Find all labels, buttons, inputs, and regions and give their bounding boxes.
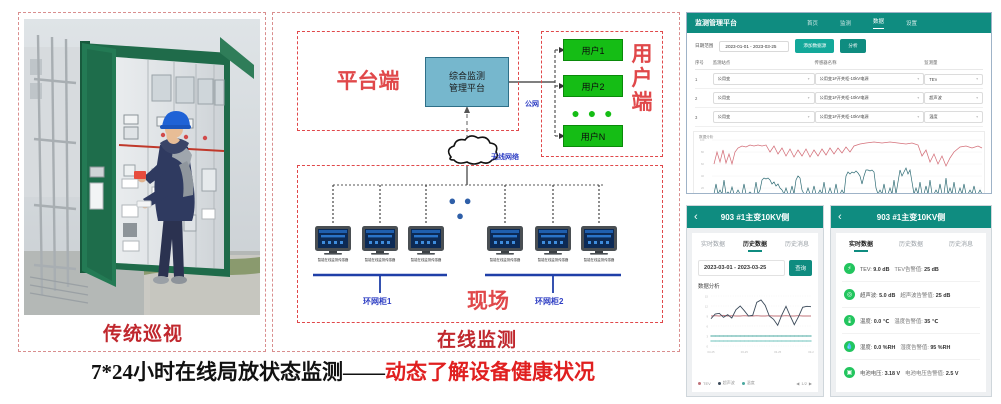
svg-text:40: 40 [701, 174, 704, 178]
online-monitoring-caption: 在线监测 [273, 325, 681, 352]
field-device [313, 225, 353, 255]
field-device [533, 225, 573, 255]
svg-text:6: 6 [706, 324, 708, 328]
svg-text:60: 60 [701, 162, 704, 166]
label-public-network: 公网 [525, 99, 539, 109]
metric-select[interactable]: 超声波▾ [924, 92, 983, 104]
date-filter-label: 日期范围 [695, 43, 713, 49]
history-date-input[interactable]: 2023-03-01 - 2023-03-25 [698, 260, 785, 276]
zone-field-label: 现场 [433, 285, 543, 315]
mobile-history-header: ‹ 903 #1主变10KV侧 [687, 206, 823, 228]
history-chart: 0369121503-2503-2503-2503-2 [698, 292, 812, 378]
label-ring-cabinet-1: 环网柜1 [363, 296, 391, 307]
svg-text:03-25: 03-25 [741, 350, 749, 354]
table-row: 1公用变▾公用变1#开关柜-10kV电源▾TEV▾ [695, 70, 983, 89]
legend-label: TEV [703, 381, 711, 386]
label-ring-cabinet-2: 环网柜2 [535, 296, 563, 307]
chevron-down-icon: ▾ [808, 77, 810, 81]
humidity-icon: 💧 [844, 341, 855, 352]
metric-row: ⚡TEV: 9.0 dBTEV告警值: 25 dB [842, 256, 980, 282]
page-indicator: 1/2 [801, 381, 807, 386]
svg-text:0: 0 [704, 192, 706, 194]
mobile-history-title: 903 #1主变10KV侧 [721, 212, 789, 223]
platform-node-line1: 综合监测 [449, 71, 485, 81]
bottom-caption-black: 7*24小时在线局放状态监测—— [91, 360, 385, 384]
node-user-2: 用户2 [563, 75, 623, 97]
photo-illustration [24, 19, 260, 315]
dashboard-nav[interactable]: 首页监测数据设置 [807, 13, 917, 33]
legend-label: 温度 [747, 380, 755, 386]
mobile-history-body: 2023-03-01 - 2023-03-25 查询 数据分析 03691215… [692, 252, 818, 392]
svg-text:3: 3 [706, 334, 708, 338]
chevron-down-icon: ▾ [917, 77, 919, 81]
legend-pagination[interactable]: ◀1/2▶ [796, 381, 812, 386]
bottom-caption: 7*24小时在线局放状态监测——动态了解设备健康状况 [0, 356, 686, 386]
table-body: 1公用变▾公用变1#开关柜-10kV电源▾TEV▾2公用变▾公用变1#开关柜-1… [695, 70, 983, 127]
chevron-down-icon: ▾ [976, 77, 978, 81]
dashboard-chart-svg: 1008060 40200 01-01 01-10 01-20 02-01 02… [694, 132, 986, 194]
svg-text:15: 15 [705, 294, 709, 298]
inspection-photo [24, 19, 260, 315]
cell-index: 1 [695, 77, 713, 82]
table-row: 3公用变▾公用变1#开关柜-10kV电源▾温度▾ [695, 108, 983, 127]
node-user-n: 用户N [563, 125, 623, 147]
th-metric: 监测量 [924, 60, 983, 66]
history-tab-2[interactable]: 历史消息 [776, 233, 818, 252]
history-date-row: 2023-03-01 - 2023-03-25 查询 [698, 260, 812, 276]
chevron-down-icon: ▾ [808, 96, 810, 100]
th-sensor: 传感器名称 [815, 60, 925, 66]
svg-text:80: 80 [701, 150, 704, 154]
sensor-select[interactable]: 公用变1#开关柜-10kV电源▾ [815, 92, 925, 104]
th-site: 监测站点 [713, 60, 815, 66]
chevron-left-icon[interactable]: ‹ [838, 210, 842, 224]
history-legend-item-1[interactable]: 超声波 [718, 380, 735, 386]
label-wireless-network: 无线网络 [491, 152, 519, 162]
history-tab-0[interactable]: 实时数据 [692, 233, 734, 252]
date-range-input[interactable]: 2023-01-01 - 2023-03-25 [719, 41, 789, 52]
legend-color-swatch [718, 382, 721, 385]
svg-text:03-25: 03-25 [707, 350, 715, 354]
mobile-history-tabs[interactable]: 实时数据历史数据历史消息 [692, 233, 818, 252]
history-tab-1[interactable]: 历史数据 [734, 233, 776, 252]
metric-select[interactable]: 温度▾ [924, 111, 983, 123]
datasource-table: 序号 监测站点 传感器名称 监测量 1公用变▾公用变1#开关柜-10kV电源▾T… [687, 57, 991, 127]
dashboard-chart-label: 数据分析 [699, 135, 713, 140]
realtime-metric-list: ⚡TEV: 9.0 dBTEV告警值: 25 dB◎超声波: 5.0 dB超声波… [836, 252, 986, 392]
site-select[interactable]: 公用变▾ [713, 73, 815, 85]
history-chart-svg: 0369121503-2503-2503-2503-2 [698, 292, 814, 362]
battery-icon: ▣ [844, 367, 855, 378]
field-device [579, 225, 619, 255]
field-device-label: 智能在线监测传感器 [398, 257, 454, 262]
history-legend-item-2[interactable]: 温度 [742, 380, 755, 386]
chevron-down-icon: ▾ [917, 115, 919, 119]
dashboard-nav-item-3[interactable]: 设置 [906, 19, 917, 27]
field-device [360, 225, 400, 255]
cell-index: 3 [695, 115, 713, 120]
field-device [406, 225, 446, 255]
svg-text:12: 12 [705, 304, 709, 308]
svg-text:20: 20 [701, 186, 704, 190]
mobile-realtime-header: ‹ 903 #1主变10KV侧 [831, 206, 991, 228]
dashboard-nav-item-2[interactable]: 数据 [873, 17, 884, 29]
metric-text: 湿度: 0.0 %RH湿度告警值: 95 %RH [860, 343, 950, 351]
realtime-tab-1[interactable]: 历史数据 [886, 233, 936, 252]
field-ellipsis: ● ● ● [441, 193, 481, 223]
field-device-label: 智能在线监测传感器 [571, 257, 627, 262]
metric-select[interactable]: TEV▾ [924, 74, 983, 85]
realtime-tab-0[interactable]: 实时数据 [836, 233, 886, 252]
chevron-down-icon: ▾ [976, 115, 978, 119]
legend-color-swatch [742, 382, 745, 385]
metric-row: 💧湿度: 0.0 %RH湿度告警值: 95 %RH [842, 334, 980, 360]
history-chart-legend: TEV超声波温度◀1/2▶ [698, 380, 812, 386]
sensor-select[interactable]: 公用变1#开关柜-10kV电源▾ [815, 111, 925, 123]
chevron-down-icon: ▾ [917, 96, 919, 100]
zone-platform-label: 平台端 [313, 65, 423, 95]
field-device [485, 225, 525, 255]
metric-row: ▣电池电压: 3.18 V电池电压告警值: 2.5 V [842, 360, 980, 385]
sensor-select[interactable]: 公用变1#开关柜-10kV电源▾ [815, 73, 925, 85]
th-index: 序号 [695, 60, 713, 66]
online-monitoring-diagram-panel: 平台端 用户端 现场 综合监测 管理平台 用户1 用户2 用户N ● ● ● ●… [272, 12, 680, 352]
node-management-platform: 综合监测 管理平台 [425, 57, 509, 107]
bottom-caption-red: 动态了解设备健康状况 [385, 360, 595, 384]
zone-user-label: 用户端 [625, 43, 659, 115]
realtime-tab-2[interactable]: 历史消息 [936, 233, 986, 252]
table-header-row: 序号 监测站点 传感器名称 监测量 [695, 57, 983, 70]
dashboard-nav-item-1[interactable]: 监测 [840, 19, 851, 27]
site-select[interactable]: 公用变▾ [713, 92, 815, 104]
ultrasonic-icon: ◎ [844, 289, 855, 300]
svg-text:03-2: 03-2 [808, 350, 814, 354]
cell-index: 2 [695, 96, 713, 101]
traditional-inspection-panel: 传统巡视 [18, 12, 266, 352]
mobile-realtime-panel: ‹ 903 #1主变10KV侧 实时数据历史数据历史消息 ⚡TEV: 9.0 d… [830, 205, 992, 397]
dashboard-header: 监测管理平台 首页监测数据设置 [687, 13, 991, 33]
svg-text:0: 0 [706, 344, 708, 348]
table-row: 2公用变▾公用变1#开关柜-10kV电源▾超声波▾ [695, 89, 983, 108]
chevron-down-icon: ▾ [976, 96, 978, 100]
mobile-realtime-tabs[interactable]: 实时数据历史数据历史消息 [836, 233, 986, 252]
add-datasource-button[interactable]: 添加数据源 [795, 39, 834, 53]
history-section-label: 数据分析 [698, 282, 812, 290]
metric-text: 温度: 0.0 ℃温度告警值: 35 ℃ [860, 317, 938, 325]
history-legend-item-0[interactable]: TEV [698, 381, 711, 386]
mobile-history-panel: ‹ 903 #1主变10KV侧 实时数据历史数据历史消息 2023-03-01 … [686, 205, 824, 397]
site-select[interactable]: 公用变▾ [713, 111, 815, 123]
analyze-button[interactable]: 分析 [840, 39, 865, 53]
tev-icon: ⚡ [844, 263, 855, 274]
dashboard-title: 监测管理平台 [695, 18, 737, 28]
chevron-left-icon[interactable]: ‹ [694, 210, 698, 224]
metric-text: 电池电压: 3.18 V电池电压告警值: 2.5 V [860, 369, 958, 377]
dashboard-toolbar: 日期范围 2023-01-01 - 2023-03-25 添加数据源 分析 [687, 33, 991, 57]
legend-label: 超声波 [723, 380, 735, 386]
node-user-1: 用户1 [563, 39, 623, 61]
metric-text: TEV: 9.0 dBTEV告警值: 25 dB [860, 265, 939, 273]
user-ellipsis: ● ● ● [563, 105, 623, 121]
next-page-icon[interactable]: ▶ [809, 381, 812, 386]
history-query-button[interactable]: 查询 [789, 260, 812, 276]
platform-node-line2: 管理平台 [449, 83, 485, 93]
slide-root: 传统巡视 [0, 0, 1001, 404]
chevron-down-icon: ▾ [808, 115, 810, 119]
metric-text: 超声波: 5.0 dB超声波告警值: 25 dB [860, 291, 950, 299]
legend-color-swatch [698, 382, 701, 385]
mobile-realtime-title: 903 #1主变10KV侧 [877, 212, 945, 223]
prev-page-icon[interactable]: ◀ [796, 381, 799, 386]
dashboard-chart: 数据分析 1008060 40200 [693, 131, 985, 194]
temperature-icon: 🌡 [844, 315, 855, 326]
metric-row: 🌡温度: 0.0 ℃温度告警值: 35 ℃ [842, 308, 980, 334]
dashboard-nav-item-0[interactable]: 首页 [807, 19, 818, 27]
svg-text:03-25: 03-25 [774, 350, 782, 354]
svg-text:9: 9 [706, 314, 708, 318]
traditional-inspection-caption: 传统巡视 [19, 319, 267, 346]
metric-row: ◎超声波: 5.0 dB超声波告警值: 25 dB [842, 282, 980, 308]
monitoring-dashboard-window: 监测管理平台 首页监测数据设置 日期范围 2023-01-01 - 2023-0… [686, 12, 992, 194]
